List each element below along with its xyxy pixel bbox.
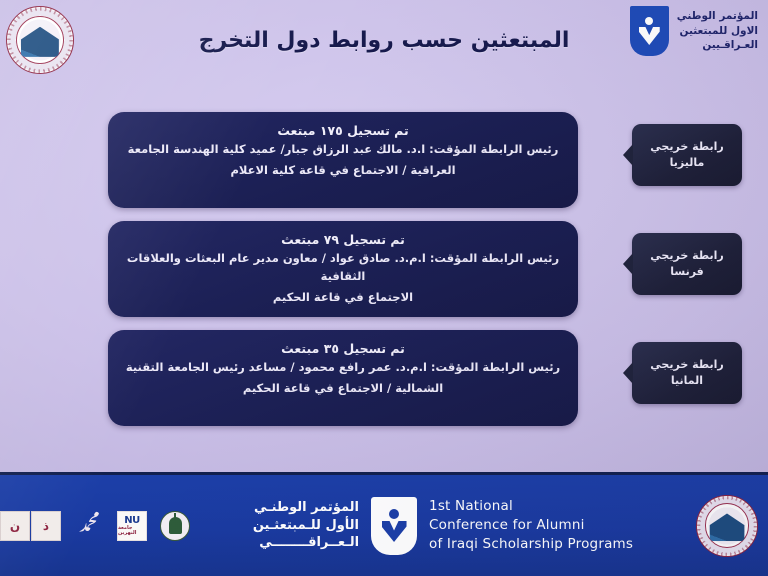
sponsor-logo-nu: NU جامعة النهرين [117, 511, 147, 541]
association-label-chip: رابطة خريجي فرنسا [632, 233, 742, 295]
registered-count-text: تم تسجيل ١٧٥ مبتعث [124, 123, 562, 138]
sponsor-nu-mark: NU جامعة النهرين [117, 511, 147, 541]
association-detail-line-1: رئيس الرابطة المؤقت: ا.م.د. صادق عواد / … [124, 250, 562, 286]
sponsor-nu-subtitle: جامعة النهرين [118, 526, 146, 536]
registered-count-text: تم تسجيل ٣٥ مبتعث [124, 341, 562, 356]
footer-arabic-title: المؤتمر الوطنـي الأول للـمبتعثـين الـعــ… [253, 499, 359, 553]
dome-icon [169, 517, 182, 534]
footer-english-line-2: Conference for Alumni [429, 516, 633, 535]
header-org-line-1: المؤتمر الوطني [677, 9, 758, 24]
association-label-chip: رابطة خريجي ماليزيا [632, 124, 742, 186]
footer-arabic-line-3: الـعــراقــــــــي [253, 534, 359, 552]
footer-english-title: 1st National Conference for Alumni of Ir… [429, 497, 633, 554]
association-label-chip: رابطة خريجي المانيا [632, 342, 742, 404]
sponsor-square-mark: ذ [31, 511, 61, 541]
chip-label-line-1: رابطة خريجي [650, 358, 723, 372]
association-info-box: تم تسجيل ١٧٥ مبتعث رئيس الرابطة المؤقت: … [108, 112, 578, 208]
association-row: تم تسجيل ١٧٥ مبتعث رئيس الرابطة المؤقت: … [0, 112, 768, 208]
slide-title: المبتعثين حسب روابط دول التخرج [0, 28, 768, 53]
association-row: تم تسجيل ٣٥ مبتعث رئيس الرابطة المؤقت: ا… [0, 330, 768, 426]
chip-label-line-1: رابطة خريجي [650, 249, 723, 263]
footer-english-line-1: 1st National [429, 497, 633, 516]
chip-label-line-1: رابطة خريجي [650, 140, 723, 154]
association-detail-line-1: رئيس الرابطة المؤقت: ا.د. مالك عبد الرزا… [124, 141, 562, 159]
chip-label-line-2: المانيا [671, 374, 703, 388]
shield-figure-head [645, 17, 653, 25]
sponsor-logo-square: ذ [31, 511, 61, 541]
sponsor-circular-mark [160, 511, 190, 541]
shield-figure [382, 509, 407, 542]
association-detail-line-2: الاجتماع في قاعة الحكيم [124, 289, 562, 307]
sponsor-logo-calligraphy: ﷴ [74, 511, 104, 541]
footer-conference-branding: المؤتمر الوطنـي الأول للـمبتعثـين الـعــ… [190, 497, 696, 555]
footer-arabic-line-1: المؤتمر الوطنـي [253, 499, 359, 517]
registered-count-text: تم تسجيل ٧٩ مبتعث [124, 232, 562, 247]
shield-figure-head [389, 509, 399, 519]
association-detail-line-2: العراقية / الاجتماع في قاعة كلية الاعلام [124, 162, 562, 180]
shield-figure-body [382, 521, 407, 542]
association-info-box: تم تسجيل ٧٩ مبتعث رئيس الرابطة المؤقت: ا… [108, 221, 578, 317]
sponsor-cut-mark: ن [0, 511, 30, 541]
slide-footer-band: ن ذ ﷴ NU جامعة النهرين المؤت [0, 472, 768, 576]
sponsor-logo-strip: ن ذ ﷴ NU جامعة النهرين [0, 511, 190, 541]
footer-english-line-3: of Iraqi Scholarship Programs [429, 535, 633, 554]
conference-shield-icon-footer [371, 497, 417, 555]
association-detail-line-2: الشمالية / الاجتماع في قاعة الحكيم [124, 380, 562, 398]
chip-label-line-2: ماليزيا [670, 156, 705, 170]
sponsor-nu-initials: NU [124, 516, 140, 526]
footer-arabic-line-2: الأول للـمبتعثـين [253, 517, 359, 535]
association-row: تم تسجيل ٧٩ مبتعث رئيس الرابطة المؤقت: ا… [0, 221, 768, 317]
presentation-slide: المؤتمر الوطني الاول للمبتعثين العـراقـي… [0, 0, 768, 576]
footer-ministry-seal-wrap [696, 495, 768, 557]
sponsor-logo-circular [160, 511, 190, 541]
sponsor-logo-cut: ن [0, 511, 18, 541]
association-detail-line-1: رئيس الرابطة المؤقت: ا.م.د. عمر رافع محم… [124, 359, 562, 377]
ministry-seal-logo-footer [696, 495, 758, 557]
chip-label-line-2: فرنسا [670, 265, 704, 279]
association-info-box: تم تسجيل ٣٥ مبتعث رئيس الرابطة المؤقت: ا… [108, 330, 578, 426]
sponsor-calligraphy-mark: ﷴ [74, 511, 104, 541]
